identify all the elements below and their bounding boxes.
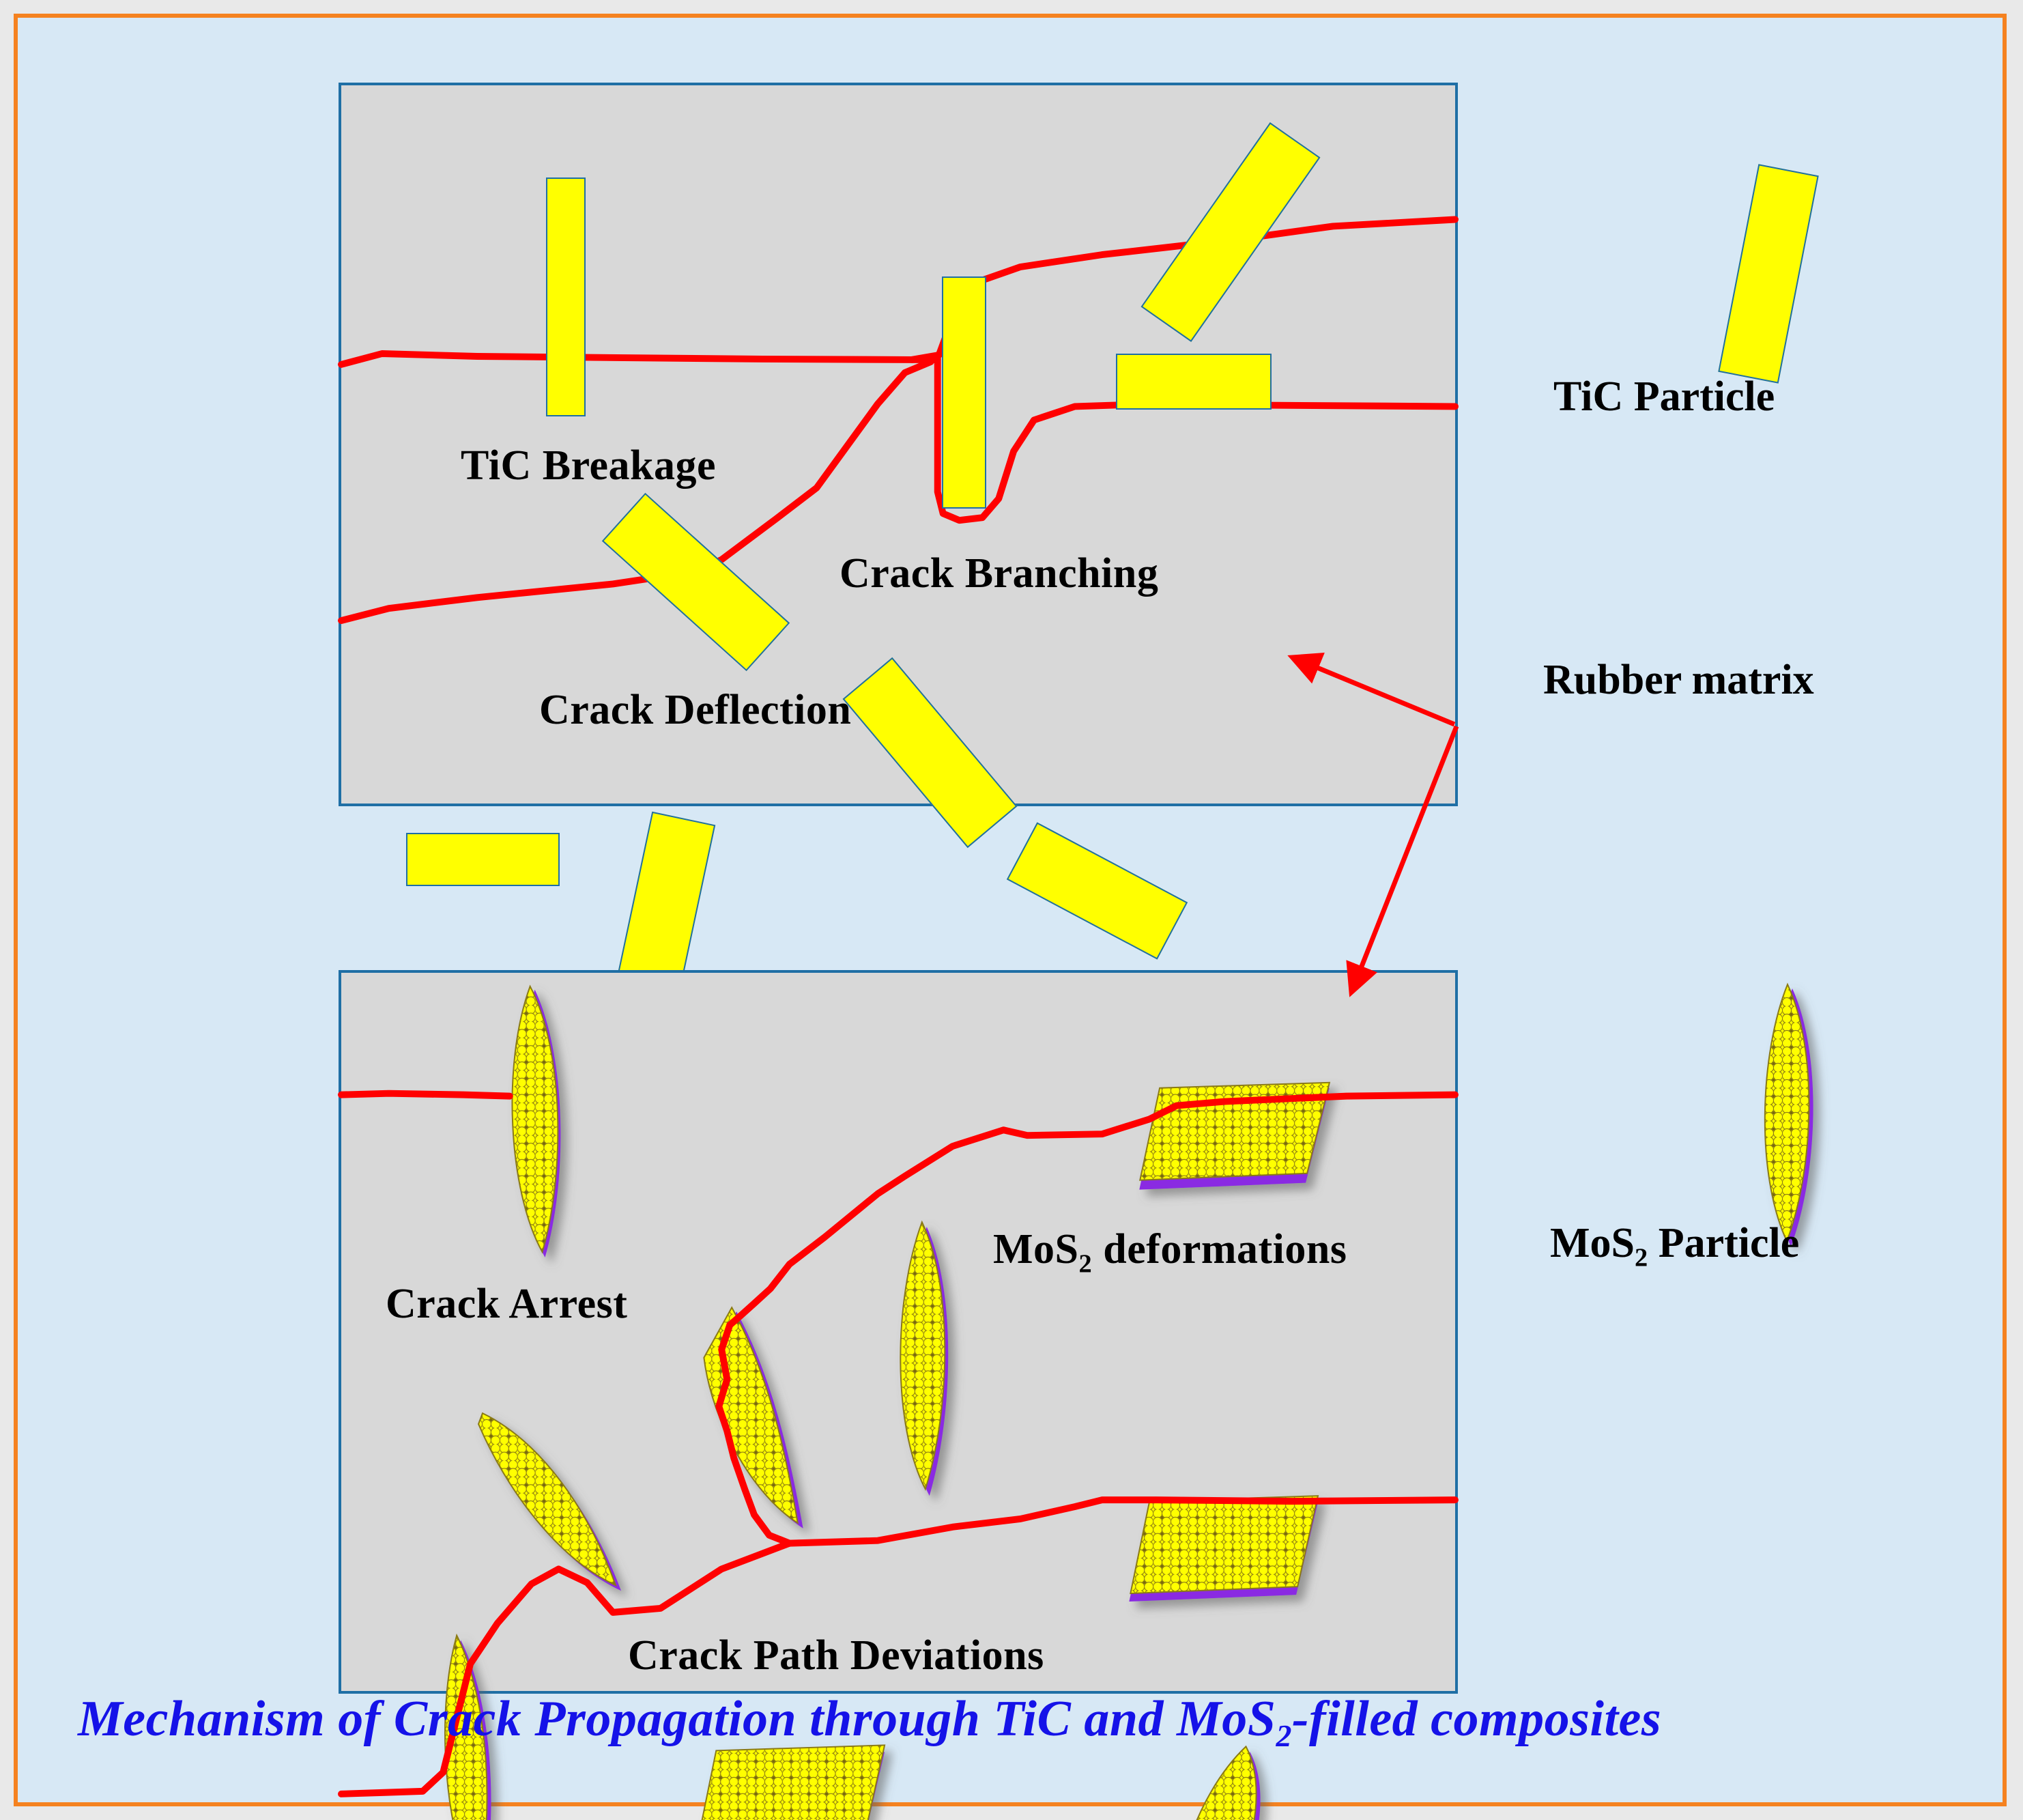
tic-particle (546, 177, 586, 416)
figure-frame: TiC Breakage Crack Deflection Crack Bran… (14, 14, 2007, 1806)
label-crack-branching: Crack Branching (840, 550, 1158, 598)
label-crack-path-deviations: Crack Path Deviations (628, 1632, 1044, 1680)
crack-line-upper (341, 220, 1455, 365)
legend-mos2-particle-label: MoS2 Particle (1550, 1219, 1799, 1272)
legend-mos2-pre: MoS (1550, 1220, 1635, 1266)
crack-line-deviation (719, 1325, 789, 1544)
panel-mos2-composite: Crack Arrest Crack Path Deviations MoS2 … (339, 970, 1458, 1694)
label-crack-deflection: Crack Deflection (539, 686, 851, 735)
caption-sub: 2 (1276, 1718, 1291, 1753)
label-mos2-deformations-sub: 2 (1079, 1249, 1093, 1278)
tic-particle (406, 833, 560, 886)
legend-mos2-post: Particle (1648, 1220, 1799, 1266)
rubber-matrix-label: Rubber matrix (1543, 656, 1814, 705)
legend-tic-particle-label: TiC Particle (1553, 373, 1775, 421)
caption-prefix: Mechanism of Crack Propagation through T… (78, 1691, 1276, 1747)
label-tic-breakage: TiC Breakage (461, 442, 716, 490)
label-crack-arrest: Crack Arrest (386, 1280, 627, 1328)
legend-mos2-sub: 2 (1635, 1243, 1648, 1272)
crack-line-upper-right (730, 1095, 1455, 1325)
tic-particle (1116, 354, 1272, 410)
mos2-particle (1177, 1746, 1261, 1820)
label-mos2-deformations-post: deformations (1092, 1226, 1347, 1272)
legend-mos2-particle-swatch (1676, 973, 1902, 1260)
label-mos2-deformations-text: MoS (993, 1226, 1079, 1272)
crack-line-arrested (341, 1094, 510, 1096)
label-mos2-deformations: MoS2 deformations (993, 1225, 1347, 1279)
arrow-to-top-panel (1294, 658, 1454, 724)
mos2-particle (695, 1745, 885, 1820)
tic-particle (942, 276, 986, 509)
caption-suffix: -filled composites (1292, 1691, 1661, 1747)
crack-paths-bottom (341, 973, 1455, 1691)
tic-particle (1007, 822, 1188, 959)
legend-tic-particle-swatch (1718, 164, 1818, 383)
crack-line-right-branch (790, 1500, 1455, 1544)
arrow-to-bottom-panel (1352, 726, 1457, 991)
figure-caption: Mechanism of Crack Propagation through T… (78, 1690, 1661, 1754)
